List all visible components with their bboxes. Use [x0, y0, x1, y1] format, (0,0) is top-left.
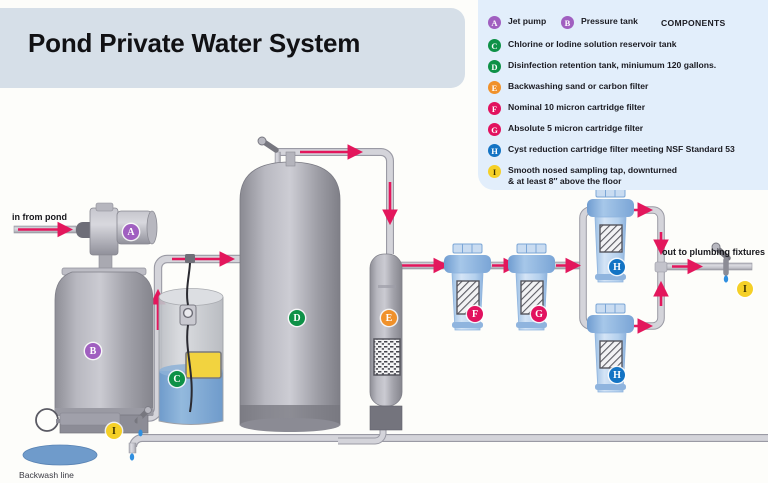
diagram-badge-e-4: E	[381, 310, 397, 326]
legend-item-E[interactable]: E Backwashing sand or carbon filter	[488, 81, 648, 94]
legend-badge-h-icon: H	[488, 144, 501, 157]
components-header: COMPONENTS	[661, 18, 726, 28]
legend-label-a: Jet pump	[508, 16, 546, 27]
label-backwash: Backwash line	[19, 470, 74, 480]
label-outlet: out to plumbing fixtures	[662, 247, 765, 257]
diagram-badge-h-7: H	[609, 259, 625, 275]
legend-badge-f-icon: F	[488, 102, 501, 115]
legend-item-A[interactable]: A Jet pump	[488, 16, 546, 29]
chlorine-reservoir-C	[159, 254, 223, 425]
legend-label-h: Cyst reduction cartridge filter meeting …	[508, 144, 735, 155]
diagram-badge-f-5: F	[467, 306, 483, 322]
diagram-canvas: Pond Private Water System COMPONENTS A J…	[0, 0, 768, 483]
legend-label-b: Pressure tank	[581, 16, 638, 27]
legend-item-H[interactable]: H Cyst reduction cartridge filter meetin…	[488, 144, 735, 157]
backwash-filter-E	[370, 254, 402, 430]
diagram-badge-g-6: G	[531, 306, 547, 322]
legend-item-F[interactable]: F Nominal 10 micron cartridge filter	[488, 102, 645, 115]
legend-label-g: Absolute 5 micron cartridge filter	[508, 123, 643, 134]
diagram-badge-h-8: H	[609, 367, 625, 383]
page-title: Pond Private Water System	[28, 28, 360, 59]
diagram-badge-d-3: D	[289, 310, 305, 326]
diagram-badge-i-10: I	[737, 281, 753, 297]
legend-badge-g-icon: G	[488, 123, 501, 136]
legend-item-B[interactable]: B Pressure tank	[561, 16, 638, 29]
diagram-badge-a-0: A	[123, 224, 139, 240]
legend-label-d: Disinfection retention tank, miniumum 12…	[508, 60, 716, 71]
jet-pump-A	[62, 203, 157, 282]
legend-item-D[interactable]: D Disinfection retention tank, miniumum …	[488, 60, 716, 73]
legend-label-f: Nominal 10 micron cartridge filter	[508, 102, 645, 113]
label-inlet: in from pond	[12, 212, 67, 222]
legend-badge-b-icon: B	[561, 16, 574, 29]
legend-label-e: Backwashing sand or carbon filter	[508, 81, 648, 92]
retention-tank-D	[240, 137, 340, 432]
legend-badge-a-icon: A	[488, 16, 501, 29]
legend-badge-e-icon: E	[488, 81, 501, 94]
legend-item-I[interactable]: I Smooth nosed sampling tap, downturned …	[488, 165, 677, 187]
backwash-pond	[23, 445, 134, 465]
diagram-badge-c-2: C	[169, 371, 185, 387]
diagram-badge-b-1: B	[85, 343, 101, 359]
legend-item-C[interactable]: C Chlorine or Iodine solution reservoir …	[488, 39, 677, 52]
legend-badge-c-icon: C	[488, 39, 501, 52]
legend-badge-i-icon: I	[488, 165, 501, 178]
legend-label-i: Smooth nosed sampling tap, downturned & …	[508, 165, 677, 187]
diagram-badge-i-9: I	[106, 423, 122, 439]
legend-badge-d-icon: D	[488, 60, 501, 73]
cartridge-filters	[444, 188, 634, 392]
legend-label-c: Chlorine or Iodine solution reservoir ta…	[508, 39, 677, 50]
legend-item-G[interactable]: G Absolute 5 micron cartridge filter	[488, 123, 643, 136]
